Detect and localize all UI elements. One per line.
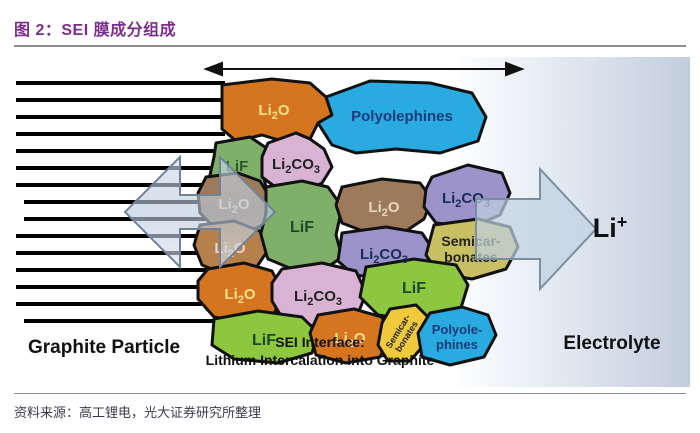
graphite-particle-caption: Graphite Particle	[28, 337, 180, 358]
source-note: 资料来源：高工锂电，光大证券研究所整理	[14, 402, 261, 421]
blob-lif-2	[260, 181, 342, 271]
title-divider	[14, 45, 686, 47]
sei-film-diagram: Li2O Polyolephines LiF Li2CO3 Li2O LiF L…	[10, 57, 690, 387]
blob-polyolephines-1	[318, 81, 486, 153]
figure-page: 图 2：SEI 膜成分组成	[0, 0, 700, 433]
sei-interface-caption-line2: Lithium Intercalation into Graphite	[206, 352, 435, 368]
electrolyte-caption: Electrolyte	[563, 333, 660, 354]
sei-interface-caption-line1: SEI Interface:	[275, 334, 364, 350]
page-title: 图 2：SEI 膜成分组成	[14, 16, 176, 40]
blob-li2o-3	[336, 179, 432, 233]
source-divider	[14, 393, 686, 394]
